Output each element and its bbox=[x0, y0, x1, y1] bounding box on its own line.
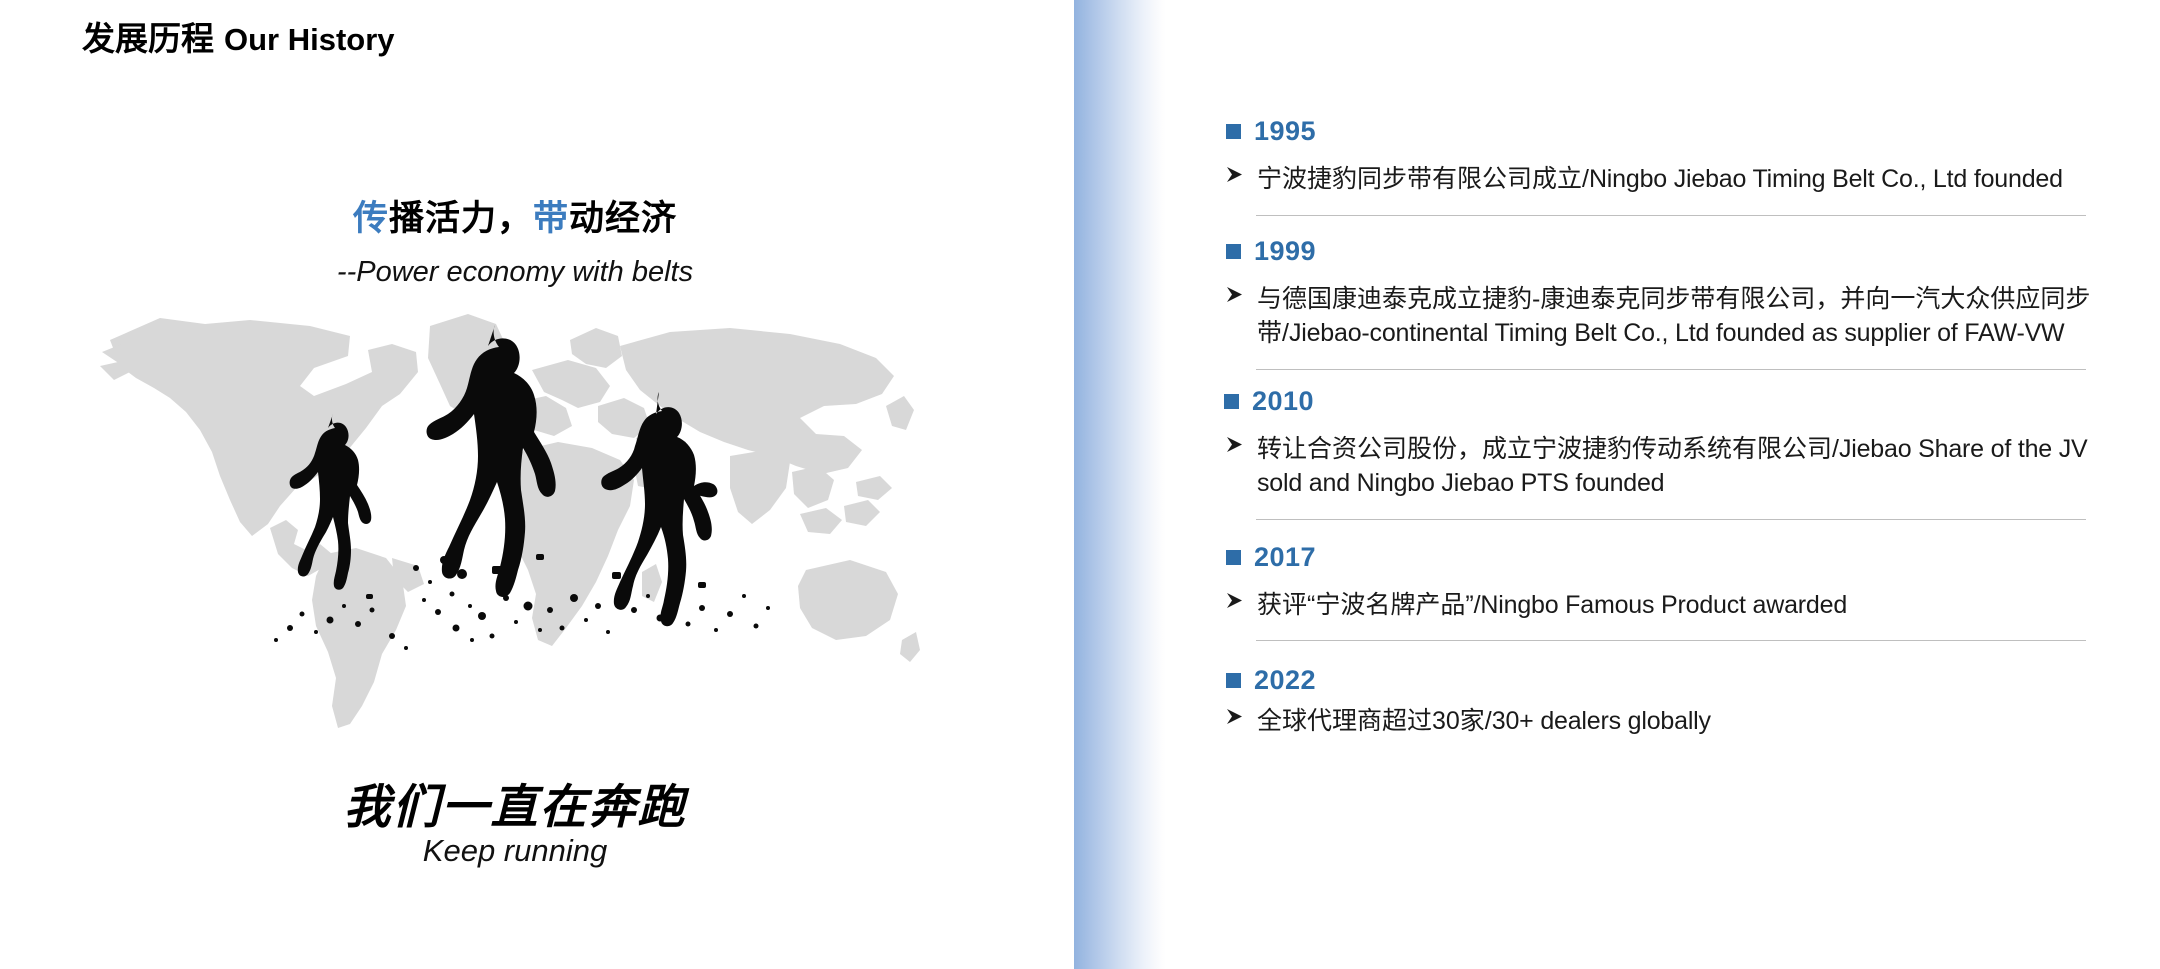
timeline-year-label: 1995 bbox=[1254, 118, 1316, 145]
tagline-plain-2: 动经济 bbox=[569, 199, 677, 238]
tagline-english: --Power economy with belts bbox=[0, 256, 1030, 289]
vertical-gradient-divider bbox=[1074, 0, 1166, 969]
timeline-desc-zh: 全球代理商超过30家/ bbox=[1257, 707, 1492, 735]
timeline-desc-en: Ningbo Jiebao Timing Belt Co., Ltd found… bbox=[1589, 165, 2063, 193]
timeline-entry-1999[interactable]: 1999 与德国康迪泰克成立捷豹-康迪泰克同步带有限公司，并向一汽大众供应同步带… bbox=[1166, 238, 2160, 370]
timeline-desc-row: 全球代理商超过30家/30+ dealers globally bbox=[1226, 704, 2116, 739]
tagline-highlight-2: 带 bbox=[533, 199, 569, 238]
timeline-desc-zh: 转让合资公司股份，成立宁波捷豹传动系统有限公司/ bbox=[1257, 435, 1839, 463]
timeline-entry-2022[interactable]: 2022 全球代理商超过30家/30+ dealers globally bbox=[1166, 667, 2160, 739]
world-map-runners-artwork bbox=[100, 310, 920, 730]
square-bullet-icon bbox=[1226, 124, 1241, 139]
timeline-year-row: 2022 bbox=[1226, 667, 2116, 694]
timeline-year-row: 2017 bbox=[1226, 544, 2116, 571]
history-timeline: 1995 宁波捷豹同步带有限公司成立/Ningbo Jiebao Timing … bbox=[1166, 0, 2160, 969]
tagline-chinese: 传播活力，带动经济 bbox=[0, 190, 1030, 241]
timeline-desc-en: /Ningbo Famous Product awarded bbox=[1474, 591, 1847, 619]
arrow-bullet-icon bbox=[1226, 706, 1245, 736]
timeline-desc-zh: 获评“宁波名牌产品” bbox=[1257, 591, 1474, 619]
slide-canvas: 发展历程Our History 传播活力，带动经济 --Power econom… bbox=[0, 0, 2160, 969]
tagline-highlight-1: 传 bbox=[353, 199, 389, 238]
timeline-desc-row: 获评“宁波名牌产品”/Ningbo Famous Product awarded bbox=[1226, 588, 2116, 623]
timeline-description: 宁波捷豹同步带有限公司成立/Ningbo Jiebao Timing Belt … bbox=[1257, 162, 2063, 197]
caption-english: Keep running bbox=[0, 833, 1030, 869]
timeline-desc-row: 转让合资公司股份，成立宁波捷豹传动系统有限公司/Jiebao Share of … bbox=[1226, 432, 2116, 501]
arrow-bullet-icon bbox=[1226, 590, 1245, 620]
timeline-separator bbox=[1256, 519, 2086, 520]
timeline-year-label: 2022 bbox=[1254, 667, 1316, 694]
timeline-separator bbox=[1256, 369, 2086, 370]
timeline-desc-row: 宁波捷豹同步带有限公司成立/Ningbo Jiebao Timing Belt … bbox=[1226, 162, 2116, 197]
arrow-bullet-icon bbox=[1226, 434, 1245, 464]
timeline-entry-1995[interactable]: 1995 宁波捷豹同步带有限公司成立/Ningbo Jiebao Timing … bbox=[1166, 118, 2160, 216]
timeline-separator bbox=[1256, 215, 2086, 216]
timeline-year-label: 2017 bbox=[1254, 544, 1316, 571]
square-bullet-icon bbox=[1226, 550, 1241, 565]
timeline-year-row: 1999 bbox=[1226, 238, 2116, 265]
timeline-entry-2017[interactable]: 2017 获评“宁波名牌产品”/Ningbo Famous Product aw… bbox=[1166, 544, 2160, 642]
timeline-entry-2010[interactable]: 2010 转让合资公司股份，成立宁波捷豹传动系统有限公司/Jiebao Shar… bbox=[1166, 388, 2160, 520]
timeline-separator bbox=[1256, 640, 2086, 641]
square-bullet-icon bbox=[1226, 673, 1241, 688]
timeline-desc-en: Jiebao-continental Timing Belt Co., Ltd … bbox=[1289, 319, 2065, 347]
timeline-year-label: 1999 bbox=[1254, 238, 1316, 265]
square-bullet-icon bbox=[1224, 394, 1239, 409]
timeline-desc-row: 与德国康迪泰克成立捷豹-康迪泰克同步带有限公司，并向一汽大众供应同步带/Jieb… bbox=[1226, 282, 2116, 351]
square-bullet-icon bbox=[1226, 244, 1241, 259]
timeline-description: 获评“宁波名牌产品”/Ningbo Famous Product awarded bbox=[1257, 588, 1847, 623]
left-panel: 传播活力，带动经济 --Power economy with belts bbox=[0, 0, 1074, 969]
timeline-year-row: 1995 bbox=[1226, 118, 2116, 145]
timeline-description: 与德国康迪泰克成立捷豹-康迪泰克同步带有限公司，并向一汽大众供应同步带/Jieb… bbox=[1257, 282, 2116, 351]
arrow-bullet-icon bbox=[1226, 284, 1245, 314]
timeline-year-row: 2010 bbox=[1224, 388, 2116, 415]
timeline-description: 转让合资公司股份，成立宁波捷豹传动系统有限公司/Jiebao Share of … bbox=[1257, 432, 2116, 501]
caption-chinese: 我们一直在奔跑 bbox=[0, 768, 1030, 837]
timeline-description: 全球代理商超过30家/30+ dealers globally bbox=[1257, 704, 1711, 739]
timeline-desc-en: 30+ dealers globally bbox=[1492, 707, 1711, 735]
timeline-desc-zh: 宁波捷豹同步带有限公司成立/ bbox=[1257, 165, 1589, 193]
timeline-year-label: 2010 bbox=[1252, 388, 1314, 415]
tagline-plain-1: 播活力， bbox=[389, 199, 533, 238]
arrow-bullet-icon bbox=[1226, 164, 1245, 194]
